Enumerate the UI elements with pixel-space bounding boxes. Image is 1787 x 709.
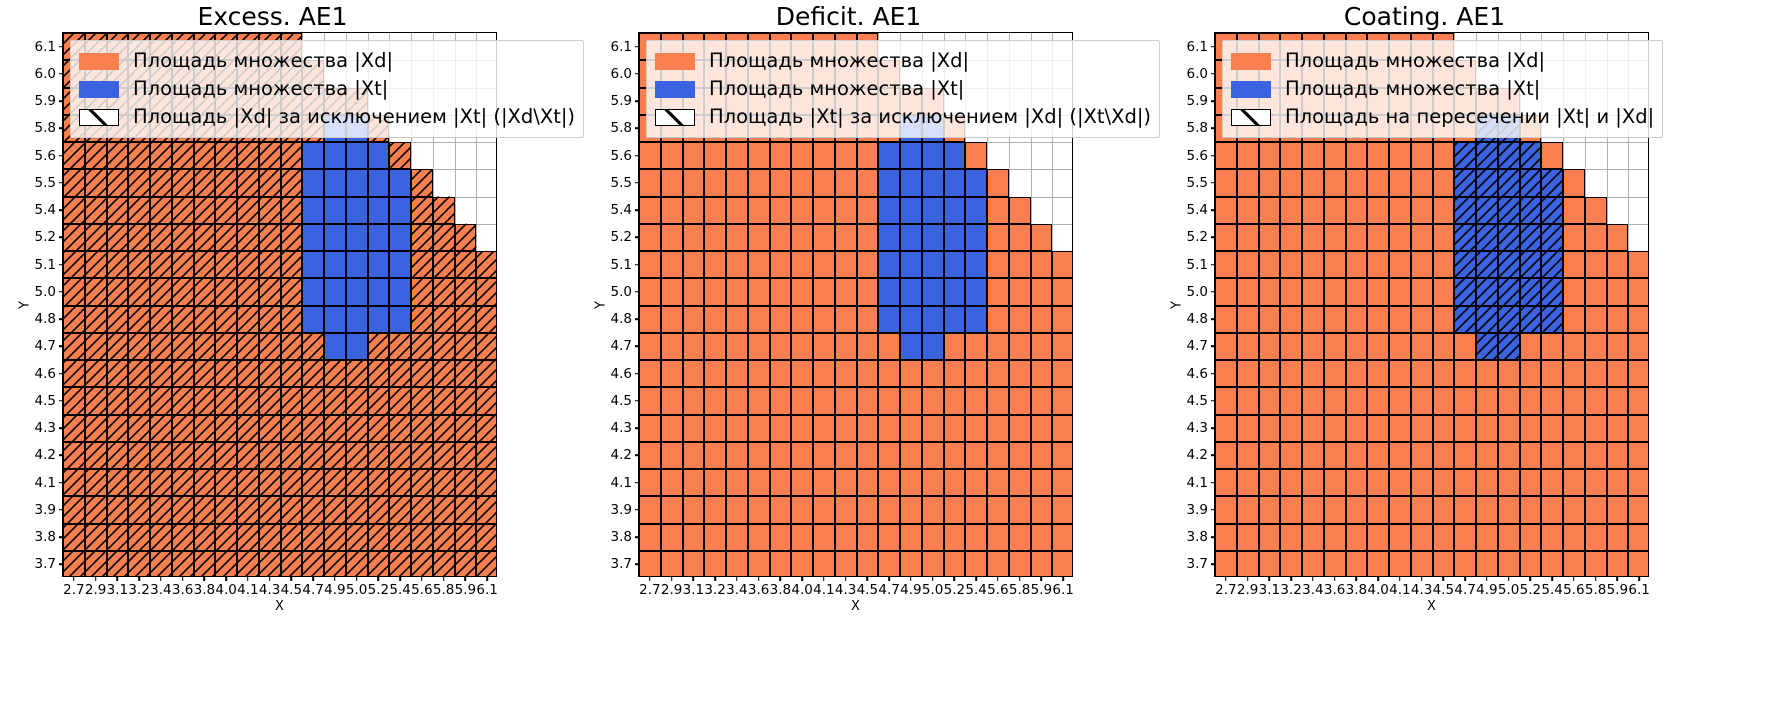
legend-0: Площадь множества |Xd| Площадь множества…	[70, 40, 584, 138]
grid-cell	[748, 278, 770, 305]
grid-cell	[1498, 496, 1520, 523]
grid-cell	[63, 278, 85, 305]
grid-cell	[411, 360, 433, 387]
grid-cell	[1563, 333, 1585, 360]
grid-cell	[683, 333, 705, 360]
grid-cell	[346, 224, 368, 251]
grid-cell	[1367, 496, 1389, 523]
grid-cell	[683, 469, 705, 496]
grid-cell	[1520, 524, 1542, 551]
grid-cell	[683, 197, 705, 224]
grid-cell	[1563, 360, 1585, 387]
grid-cell	[302, 551, 324, 576]
grid-cell	[1498, 306, 1520, 333]
grid-cell	[1367, 251, 1389, 278]
grid-cell	[639, 306, 661, 333]
grid-cell	[346, 442, 368, 469]
grid-cell	[1367, 442, 1389, 469]
grid-cell	[639, 169, 661, 196]
grid-cell	[389, 551, 411, 576]
x-tick-mark	[1399, 576, 1401, 581]
grid-cell	[1454, 333, 1476, 360]
grid-cell	[791, 306, 813, 333]
x-tick-mark	[95, 576, 97, 581]
grid-cell	[1215, 551, 1237, 576]
grid-cell	[1476, 415, 1498, 442]
grid-cell	[1411, 169, 1433, 196]
legend-swatch-hatch-icon	[1231, 109, 1271, 126]
grid-cell	[128, 387, 150, 414]
grid-cell	[1367, 415, 1389, 442]
grid-cell	[368, 278, 390, 305]
grid-cell	[455, 224, 477, 251]
grid-cell	[1346, 333, 1368, 360]
grid-cell	[704, 278, 726, 305]
grid-cell	[324, 224, 346, 251]
grid-cell	[726, 169, 748, 196]
grid-cell	[726, 387, 748, 414]
grid-cell	[813, 224, 835, 251]
legend-label-xt: Площадь множества |Xt|	[709, 79, 964, 99]
grid-cell	[1628, 387, 1648, 414]
grid-cell	[128, 251, 150, 278]
x-tick-mark	[1464, 576, 1466, 581]
grid-cell	[791, 469, 813, 496]
grid-cell	[1215, 197, 1237, 224]
legend-item-hatch: Площадь на пересечении |Xt| и |Xd|	[1231, 103, 1654, 131]
grid-cell	[726, 251, 748, 278]
grid-cell	[1324, 469, 1346, 496]
grid-cell	[1346, 278, 1368, 305]
grid-cell	[237, 469, 259, 496]
grid-cell	[965, 251, 987, 278]
grid-cell	[455, 415, 477, 442]
grid-cell	[85, 224, 107, 251]
grid-cell	[1302, 333, 1324, 360]
grid-cell	[857, 551, 879, 576]
grid-cell	[324, 306, 346, 333]
grid-cell	[987, 551, 1009, 576]
grid-cell	[835, 333, 857, 360]
grid-cell	[194, 142, 216, 169]
grid-cell	[259, 224, 281, 251]
grid-cell	[346, 415, 368, 442]
grid-cell	[433, 251, 455, 278]
grid-cell	[1367, 524, 1389, 551]
grid-cell	[770, 469, 792, 496]
grid-cell	[476, 442, 496, 469]
y-tick-mark	[635, 455, 640, 457]
x-tick-mark	[1551, 576, 1553, 581]
x-tick-mark	[399, 576, 401, 581]
grid-cell	[1302, 360, 1324, 387]
y-tick-mark	[635, 564, 640, 566]
grid-cell	[433, 415, 455, 442]
grid-cell	[661, 496, 683, 523]
grid-cell	[748, 551, 770, 576]
grid-cell	[1302, 469, 1324, 496]
grid-cell	[1302, 169, 1324, 196]
grid-cell	[172, 306, 194, 333]
grid-cell	[944, 415, 966, 442]
grid-cell	[704, 251, 726, 278]
grid-cell	[215, 551, 237, 576]
grid-cell	[1367, 169, 1389, 196]
x-tick-mark	[1356, 576, 1358, 581]
grid-cell	[346, 496, 368, 523]
grid-cell	[172, 333, 194, 360]
grid-cell	[639, 142, 661, 169]
grid-cell	[944, 360, 966, 387]
grid-cell	[726, 306, 748, 333]
grid-cell	[857, 169, 879, 196]
grid-cell	[857, 278, 879, 305]
y-tick-mark	[635, 509, 640, 511]
grid-cell	[1389, 442, 1411, 469]
y-tick-mark	[59, 400, 64, 402]
grid-cell	[411, 387, 433, 414]
grid-cell	[107, 415, 129, 442]
grid-cell	[791, 496, 813, 523]
grid-cell	[1520, 360, 1542, 387]
grid-cell	[1052, 496, 1072, 523]
grid-cell	[987, 415, 1009, 442]
grid-cell	[281, 142, 303, 169]
grid-cell	[683, 551, 705, 576]
grid-cell	[150, 197, 172, 224]
y-tick-mark	[635, 400, 640, 402]
grid-cell	[748, 251, 770, 278]
grid-cell	[1411, 278, 1433, 305]
grid-cell	[1302, 524, 1324, 551]
grid-cell	[1237, 224, 1259, 251]
y-tick-mark	[1211, 128, 1216, 130]
grid-cell	[1411, 496, 1433, 523]
grid-cell	[85, 442, 107, 469]
grid-cell	[1433, 333, 1455, 360]
grid-cell	[237, 169, 259, 196]
grid-cell	[215, 469, 237, 496]
x-tick-mark	[1638, 576, 1640, 581]
grid-cell	[770, 197, 792, 224]
grid-cell	[857, 415, 879, 442]
grid-cell	[215, 306, 237, 333]
grid-cell	[1237, 251, 1259, 278]
grid-cell	[433, 496, 455, 523]
grid-cell	[1541, 387, 1563, 414]
grid-cell	[1541, 278, 1563, 305]
grid-cell	[455, 387, 477, 414]
grid-cell	[1280, 224, 1302, 251]
grid-cell	[107, 360, 129, 387]
grid-cell	[704, 169, 726, 196]
grid-cell	[922, 278, 944, 305]
y-tick-mark	[635, 536, 640, 538]
grid-cell	[900, 197, 922, 224]
grid-cell	[1215, 142, 1237, 169]
grid-cell	[987, 197, 1009, 224]
grid-cell	[1324, 224, 1346, 251]
legend-swatch-hatch-icon	[79, 109, 119, 126]
grid-cell	[194, 278, 216, 305]
grid-cell	[965, 224, 987, 251]
grid-cell	[433, 524, 455, 551]
grid-cell	[661, 551, 683, 576]
grid-cell	[1498, 169, 1520, 196]
grid-cell	[1280, 469, 1302, 496]
grid-cell	[726, 360, 748, 387]
grid-cell	[259, 278, 281, 305]
grid-cell	[389, 142, 411, 169]
grid-cell	[922, 142, 944, 169]
grid-cell	[1280, 524, 1302, 551]
grid-cell	[1563, 306, 1585, 333]
grid-cell	[85, 197, 107, 224]
y-tick-mark	[1211, 237, 1216, 239]
grid-cell	[1280, 306, 1302, 333]
grid-cell	[455, 496, 477, 523]
y-tick-mark	[59, 455, 64, 457]
x-tick-mark	[780, 576, 782, 581]
grid-cell	[411, 551, 433, 576]
grid-cell	[878, 524, 900, 551]
grid-cell	[965, 387, 987, 414]
plot-area-2: Площадь множества |Xd| Площадь множества…	[1214, 32, 1649, 577]
grid-cell	[85, 524, 107, 551]
grid-cell	[1302, 551, 1324, 576]
grid-cell	[900, 306, 922, 333]
grid-cell	[1585, 224, 1607, 251]
grid-cell	[1324, 415, 1346, 442]
grid-cell	[661, 224, 683, 251]
grid-cell	[411, 333, 433, 360]
grid-cell	[1367, 197, 1389, 224]
grid-cell	[1324, 278, 1346, 305]
grid-cell	[1411, 306, 1433, 333]
grid-cell	[965, 442, 987, 469]
grid-cell	[302, 442, 324, 469]
grid-cell	[63, 251, 85, 278]
grid-cell	[878, 169, 900, 196]
y-tick-mark	[1211, 564, 1216, 566]
grid-cell	[411, 224, 433, 251]
grid-cell	[922, 197, 944, 224]
grid-cell	[1411, 551, 1433, 576]
grid-cell	[128, 169, 150, 196]
grid-cell	[1237, 197, 1259, 224]
grid-cell	[411, 524, 433, 551]
grid-cell	[639, 278, 661, 305]
grid-cell	[1302, 197, 1324, 224]
x-tick-mark	[443, 576, 445, 581]
grid-cell	[1259, 251, 1281, 278]
grid-cell	[1476, 469, 1498, 496]
grid-cell	[944, 251, 966, 278]
grid-cell	[107, 278, 129, 305]
grid-cell	[455, 524, 477, 551]
grid-cell	[1346, 251, 1368, 278]
grid-cell	[1585, 306, 1607, 333]
grid-cell	[237, 197, 259, 224]
grid-cell	[1520, 415, 1542, 442]
grid-cell	[1607, 524, 1629, 551]
grid-cell	[237, 442, 259, 469]
grid-cell	[1237, 524, 1259, 551]
grid-cell	[1215, 415, 1237, 442]
grid-cell	[302, 278, 324, 305]
grid-cell	[259, 496, 281, 523]
y-tick-mark	[635, 182, 640, 184]
legend-swatch-xt-icon	[1231, 81, 1271, 98]
grid-cell	[1346, 551, 1368, 576]
grid-cell	[1259, 551, 1281, 576]
grid-cell	[1215, 524, 1237, 551]
grid-cell	[476, 496, 496, 523]
grid-cell	[1052, 442, 1072, 469]
legend-2: Площадь множества |Xd| Площадь множества…	[1222, 40, 1663, 138]
grid-cell	[368, 360, 390, 387]
grid-cell	[1259, 415, 1281, 442]
grid-cell	[770, 442, 792, 469]
grid-cell	[704, 551, 726, 576]
grid-cell	[107, 142, 129, 169]
grid-cell	[1628, 251, 1648, 278]
grid-cell	[63, 333, 85, 360]
grid-cell	[878, 197, 900, 224]
grid-cell	[748, 142, 770, 169]
grid-cell	[324, 469, 346, 496]
grid-cell	[63, 442, 85, 469]
grid-cell	[172, 197, 194, 224]
grid-cell	[1009, 197, 1031, 224]
grid-cell	[944, 496, 966, 523]
grid-cell	[1009, 360, 1031, 387]
grid-cell	[302, 169, 324, 196]
grid-cell	[63, 360, 85, 387]
grid-cell	[1009, 442, 1031, 469]
grid-cell	[194, 251, 216, 278]
grid-cell	[1411, 442, 1433, 469]
x-tick-mark	[1486, 576, 1488, 581]
y-tick-mark	[59, 536, 64, 538]
grid-cell	[1324, 169, 1346, 196]
grid-cell	[900, 551, 922, 576]
grid-cell	[1324, 306, 1346, 333]
grid-cell	[1476, 278, 1498, 305]
x-tick-mark	[1617, 576, 1619, 581]
x-tick-mark	[204, 576, 206, 581]
grid-cell	[259, 306, 281, 333]
grid-cell	[1498, 387, 1520, 414]
x-tick-mark	[160, 576, 162, 581]
grid-cell	[281, 469, 303, 496]
grid-cell	[661, 197, 683, 224]
grid-cell	[1433, 524, 1455, 551]
legend-label-xt: Площадь множества |Xt|	[133, 79, 388, 99]
grid-cell	[965, 496, 987, 523]
grid-cell	[1411, 142, 1433, 169]
grid-cell	[857, 197, 879, 224]
grid-cell	[1052, 360, 1072, 387]
grid-cell	[1237, 360, 1259, 387]
grid-cell	[1009, 524, 1031, 551]
grid-cell	[900, 387, 922, 414]
grid-cell	[476, 278, 496, 305]
grid-cell	[368, 469, 390, 496]
grid-cell	[194, 360, 216, 387]
grid-cell	[194, 306, 216, 333]
grid-cell	[1237, 415, 1259, 442]
grid-cell	[944, 333, 966, 360]
grid-cell	[1541, 197, 1563, 224]
legend-swatch-xd-icon	[1231, 53, 1271, 70]
y-axis-label-0: Y	[18, 301, 33, 309]
grid-cell	[661, 306, 683, 333]
grid-cell	[639, 251, 661, 278]
grid-cell	[433, 469, 455, 496]
grid-cell	[389, 306, 411, 333]
grid-cell	[411, 496, 433, 523]
grid-cell	[107, 496, 129, 523]
y-tick-mark	[1211, 155, 1216, 157]
grid-cell	[770, 415, 792, 442]
grid-cell	[1520, 469, 1542, 496]
grid-cell	[1454, 251, 1476, 278]
grid-cell	[1052, 278, 1072, 305]
grid-cell	[215, 442, 237, 469]
grid-cell	[813, 415, 835, 442]
grid-cell	[1585, 251, 1607, 278]
grid-cell	[368, 142, 390, 169]
grid-cell	[172, 524, 194, 551]
grid-cell	[965, 551, 987, 576]
grid-cell	[346, 169, 368, 196]
grid-cell	[965, 197, 987, 224]
grid-cell	[324, 442, 346, 469]
grid-cell	[1280, 551, 1302, 576]
grid-cell	[368, 333, 390, 360]
grid-cell	[128, 333, 150, 360]
grid-cell	[237, 524, 259, 551]
x-tick-mark	[182, 576, 184, 581]
grid-cell	[259, 469, 281, 496]
grid-cell	[1280, 142, 1302, 169]
grid-cell	[128, 524, 150, 551]
x-tick-mark	[117, 576, 119, 581]
grid-cell	[1628, 278, 1648, 305]
grid-cell	[1259, 333, 1281, 360]
grid-cell	[1585, 360, 1607, 387]
grid-cell	[704, 306, 726, 333]
grid-cell	[455, 306, 477, 333]
y-tick-mark	[1211, 73, 1216, 75]
grid-cell	[900, 415, 922, 442]
y-tick-mark	[635, 346, 640, 348]
legend-1: Площадь множества |Xd| Площадь множества…	[646, 40, 1160, 138]
grid-cell	[835, 251, 857, 278]
grid-cell	[639, 469, 661, 496]
grid-cell	[726, 142, 748, 169]
x-axis-label-0: X	[63, 599, 496, 614]
grid-cell	[455, 442, 477, 469]
grid-cell	[237, 496, 259, 523]
grid-cell	[770, 496, 792, 523]
grid-cell	[259, 551, 281, 576]
grid-cell	[1031, 224, 1053, 251]
grid-cell	[639, 387, 661, 414]
grid-cell	[1009, 224, 1031, 251]
grid-cell	[324, 387, 346, 414]
